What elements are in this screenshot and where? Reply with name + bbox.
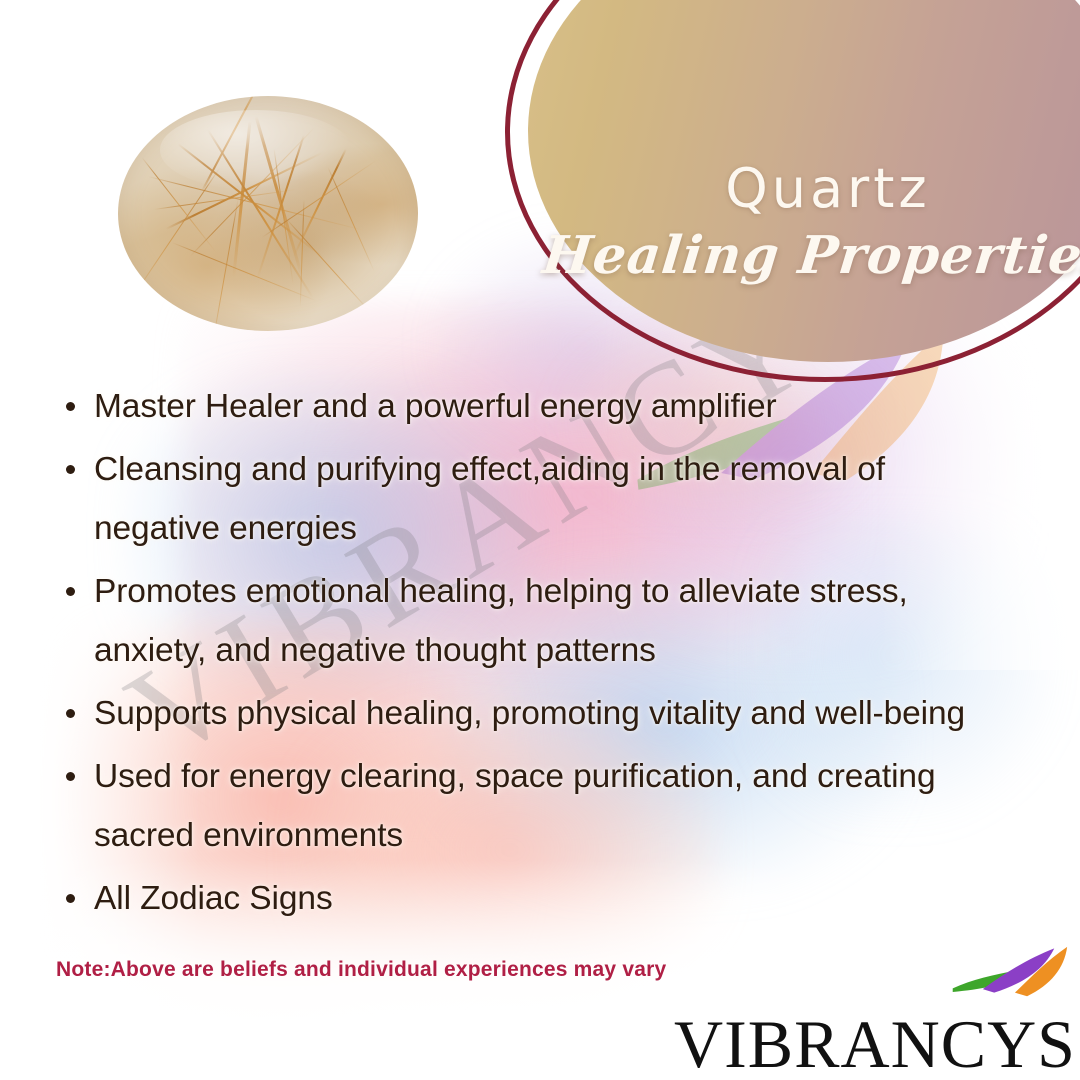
list-item: Cleansing and purifying effect,aiding in… <box>58 441 1008 559</box>
poster-canvas: VIBRANCYS Quartz Healing Properties <box>0 0 1080 1080</box>
list-item: Promotes emotional healing, helping to a… <box>58 563 1008 681</box>
healing-properties-list: Master Healer and a powerful energy ampl… <box>58 378 1008 933</box>
brand-logo: VIBRANCYS <box>756 942 1076 1072</box>
page-title: Quartz <box>725 162 931 216</box>
brand-swoosh-icon <box>952 942 1070 1004</box>
list-item: Master Healer and a powerful energy ampl… <box>58 378 1008 437</box>
disclaimer-note: Note:Above are beliefs and individual ex… <box>56 958 666 982</box>
gemstone-image <box>118 96 418 331</box>
brand-wordmark: VIBRANCYS <box>674 1010 1076 1078</box>
list-item: All Zodiac Signs <box>58 870 1008 929</box>
list-item: Used for energy clearing, space purifica… <box>58 748 1008 866</box>
gemstone-oval <box>118 96 418 331</box>
header-text-group: Quartz Healing Properties <box>528 0 1080 362</box>
gemstone-highlight <box>160 110 352 190</box>
page-subtitle: Healing Properties <box>540 230 1080 282</box>
list-item: Supports physical healing, promoting vit… <box>58 685 1008 744</box>
